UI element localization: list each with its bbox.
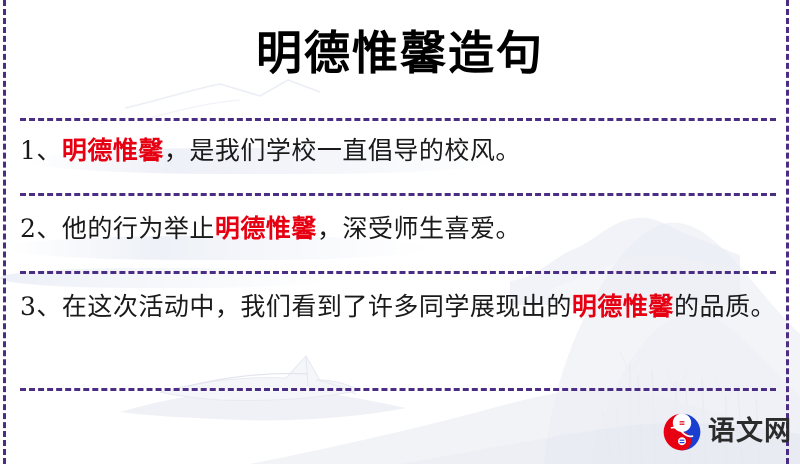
sentence-text-tail: ，深受师生喜爱。 xyxy=(317,214,521,243)
divider-between-2-and-3 xyxy=(20,271,776,274)
slide-page: 明德惟馨造句 1、明德惟馨，是我们学校一直倡导的校风。 2、他的行为举止明德惟馨… xyxy=(0,0,800,464)
sentence-number: 2、 xyxy=(20,214,62,243)
sentence-text-tail: 的品质。 xyxy=(674,292,776,321)
page-title: 明德惟馨造句 xyxy=(0,24,800,82)
sentence-text-lead: 在这次活动中，我们看到了许多同学展现出的 xyxy=(62,292,572,321)
brand-name: 语文网 xyxy=(708,416,792,448)
sentence-number: 3、 xyxy=(20,292,62,321)
sentence-text-tail: ，是我们学校一直倡导的校风。 xyxy=(164,136,521,165)
yinyang-circle-logo-icon xyxy=(662,412,702,452)
watermark-boat xyxy=(120,346,450,436)
sentence-item: 1、明德惟馨，是我们学校一直倡导的校风。 xyxy=(20,130,776,172)
sentence-text-lead: 他的行为举止 xyxy=(62,214,215,243)
divider-between-1-and-2 xyxy=(20,193,776,196)
idiom-highlight: 明德惟馨 xyxy=(215,214,317,243)
divider-below-sentence-3 xyxy=(20,388,776,391)
brand-logo[interactable]: 语文网 xyxy=(662,412,792,452)
idiom-highlight: 明德惟馨 xyxy=(62,136,164,165)
sentence-number: 1、 xyxy=(20,136,62,165)
sentence-item: 2、他的行为举止明德惟馨，深受师生喜爱。 xyxy=(20,208,776,250)
divider-above-sentence-1 xyxy=(20,118,776,121)
page-frame-right-border xyxy=(786,0,789,464)
page-frame-left-border xyxy=(3,0,6,464)
idiom-highlight: 明德惟馨 xyxy=(572,292,674,321)
sentence-item: 3、在这次活动中，我们看到了许多同学展现出的明德惟馨的品质。 xyxy=(20,286,776,328)
